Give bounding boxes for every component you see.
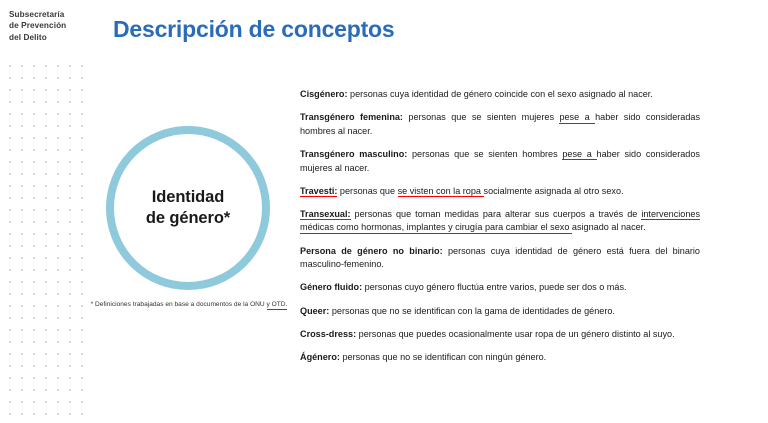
definition-item: Género fluido: personas cuyo género fluc… xyxy=(300,281,700,295)
definition-item: Cisgénero: personas cuya identidad de gé… xyxy=(300,88,700,102)
definition-highlight: se visten con la ropa xyxy=(398,186,484,197)
definition-text: personas que no se identifican con la ga… xyxy=(329,306,615,316)
decorative-dot-grid xyxy=(0,57,88,423)
definition-term: Persona de género no binario: xyxy=(300,246,443,256)
definition-term: Cisgénero: xyxy=(300,89,348,99)
page-title: Descripción de conceptos xyxy=(113,16,395,43)
definition-item: Transexual: personas que toman medidas p… xyxy=(300,208,700,235)
definition-term: Género fluido: xyxy=(300,282,362,292)
footnote-lead: * Definiciones trabajadas en base a docu… xyxy=(91,301,267,308)
definition-term: Travesti: xyxy=(300,186,337,197)
organization-logo-text: Subsecretaríade Prevencióndel Delito xyxy=(9,9,101,43)
definition-item: Ágénero: personas que no se identifican … xyxy=(300,351,700,365)
definition-text: personas cuya identidad de género coinci… xyxy=(348,89,653,99)
definition-term: Transgénero femenina: xyxy=(300,112,403,122)
definition-text: personas que toman medidas para alterar … xyxy=(351,209,642,219)
definition-term: Cross-dress: xyxy=(300,329,356,339)
definition-text: personas que no se identifican con ningú… xyxy=(340,352,546,362)
definition-item: Transgénero femenina: personas que se si… xyxy=(300,111,700,138)
footnote: * Definiciones trabajadas en base a docu… xyxy=(86,300,292,310)
definitions-list: Cisgénero: personas cuya identidad de gé… xyxy=(300,88,700,364)
definition-text: socialmente asignada al otro sexo. xyxy=(484,186,624,196)
definition-term: Transexual: xyxy=(300,209,351,220)
footnote-highlight: y OTD. xyxy=(267,301,288,310)
definition-item: Transgénero masculino: personas que se s… xyxy=(300,148,700,175)
identity-circle-label: Identidadde género* xyxy=(146,187,230,229)
definition-term: Queer: xyxy=(300,306,329,316)
definition-text: personas que se sienten mujeres xyxy=(403,112,559,122)
definition-term: Ágénero: xyxy=(300,352,340,362)
definition-item: Travesti: personas que se visten con la … xyxy=(300,185,700,199)
definition-text: personas que xyxy=(337,186,397,196)
definition-term: Transgénero masculino: xyxy=(300,149,407,159)
definition-text: personas cuyo género fluctúa entre vario… xyxy=(362,282,626,292)
definition-highlight: pese a xyxy=(562,149,596,160)
definition-item: Queer: personas que no se identifican co… xyxy=(300,305,700,319)
definition-item: Persona de género no binario: personas c… xyxy=(300,245,700,272)
definition-text: personas que puedes ocasionalmente usar … xyxy=(356,329,675,339)
definition-item: Cross-dress: personas que puedes ocasion… xyxy=(300,328,700,342)
definition-highlight: pese a xyxy=(559,112,595,123)
definition-text: asignado al nacer. xyxy=(572,222,646,232)
identity-circle-graphic: Identidadde género* xyxy=(106,126,270,290)
definition-text: personas que se sienten hombres xyxy=(407,149,562,159)
